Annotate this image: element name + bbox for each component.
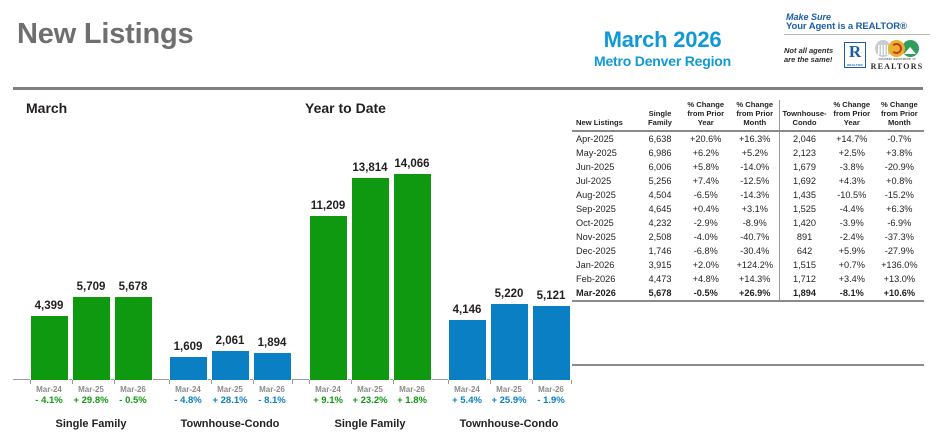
table-cell-tc-yoy: -8.1%: [829, 286, 875, 301]
table-cell-sf: 4,645: [639, 202, 681, 216]
table-cell-sf: 2,508: [639, 230, 681, 244]
table-cell-sf: 5,256: [639, 174, 681, 188]
table-cell-tc: 1,435: [780, 188, 829, 202]
table-header: New ListingsSingleFamily% Changefrom Pri…: [572, 100, 924, 131]
table-cell-month: Jun-2025: [572, 160, 639, 174]
table-cell-tc: 1,420: [780, 216, 829, 230]
table-cell-tc: 891: [780, 230, 829, 244]
realtor-logo-headline: Make Sure Your Agent is a REALTOR®: [784, 12, 930, 32]
table-row: Jul-20255,256+7.4%-12.5%1,692+4.3%+0.8%: [572, 174, 924, 188]
table-cell-tc-mom: +6.3%: [875, 202, 924, 216]
table-cell-month: Jan-2026: [572, 258, 639, 272]
table-cell-tc-mom: +0.8%: [875, 174, 924, 188]
realtor-r-letter: R: [849, 42, 861, 61]
table-cell-month: Sep-2025: [572, 202, 639, 216]
table-cell-tc: 1,692: [780, 174, 829, 188]
table-cell-month: Mar-2026: [572, 286, 639, 301]
table-cell-sf-mom: -12.5%: [730, 174, 779, 188]
table-cell-sf-yoy: -0.5%: [681, 286, 730, 301]
table-header-line: Month: [877, 118, 922, 127]
table-cell-sf-yoy: +4.8%: [681, 272, 730, 286]
table-cell-sf-mom: -14.0%: [730, 160, 779, 174]
table-cell-sf-yoy: +20.6%: [681, 131, 730, 146]
table-cell-tc: 1,894: [780, 286, 829, 301]
bar-townhouse-condo-mar-25: [490, 303, 529, 380]
table-header-row: New ListingsSingleFamily% Changefrom Pri…: [572, 100, 924, 131]
x-axis-pct-change: - 8.1%: [246, 395, 298, 406]
table-row: Nov-20252,508-4.0%-40.7%891-2.4%-37.3%: [572, 230, 924, 244]
table-header-line: % Change: [877, 100, 922, 109]
group-label-single-family: Single Family: [300, 418, 440, 430]
group-label-single-family: Single Family: [21, 418, 161, 430]
table-header-cell: New Listings: [572, 100, 639, 131]
header-divider: [13, 87, 923, 90]
realtor-r-sublabel: REALTOR: [845, 63, 865, 67]
x-axis-date: Mar-26: [386, 384, 438, 395]
x-axis-pct-change: - 0.5%: [107, 395, 159, 406]
x-axis-pct-change: - 1.9%: [525, 395, 577, 406]
table-header-line: % Change: [683, 100, 728, 109]
bar-value-label: 14,066: [372, 158, 452, 170]
table-cell-tc: 1,515: [780, 258, 829, 272]
x-axis-date: Mar-26: [107, 384, 159, 395]
table-header-line: Year: [831, 118, 873, 127]
page-title: New Listings: [17, 18, 193, 51]
table-cell-tc-mom: -0.7%: [875, 131, 924, 146]
table-cell-sf-yoy: +0.4%: [681, 202, 730, 216]
report-period-region: Metro Denver Region: [560, 52, 765, 71]
chart-march-plot: 4,3995,7095,6781,6092,0611,894: [13, 124, 285, 380]
chart-ytd-x-labels: Mar-24+ 9.1%Mar-25+ 23.2%Mar-26+ 1.8%Mar…: [292, 384, 564, 418]
table-cell-sf: 4,473: [639, 272, 681, 286]
bar-townhouse-condo-mar-26: [532, 305, 571, 380]
table-row: Mar-20265,678-0.5%+26.9%1,894-8.1%+10.6%: [572, 286, 924, 301]
table-header-line: Year: [683, 118, 728, 127]
table-cell-tc: 642: [780, 244, 829, 258]
table-header-cell: % Changefrom PriorYear: [681, 100, 730, 131]
table-cell-tc-yoy: -2.4%: [829, 230, 875, 244]
table-header-cell: SingleFamily: [639, 100, 681, 131]
realtor-logo-tagline: Not all agents are the same!: [784, 46, 840, 64]
realtor-logo-divider: [784, 34, 930, 35]
chart-ytd-title: Year to Date: [305, 100, 564, 116]
report-period-month: March 2026: [560, 28, 765, 52]
bar-single-family-mar-25: [351, 177, 390, 380]
table-cell-sf: 4,504: [639, 188, 681, 202]
colorado-association-realtors-logo: colorado association of REALTORS: [870, 38, 924, 71]
new-listings-table: New ListingsSingleFamily% Changefrom Pri…: [572, 100, 924, 302]
colorado-c-icon: [888, 40, 905, 57]
table-header-line: % Change: [831, 100, 873, 109]
table-cell-tc: 1,712: [780, 272, 829, 286]
table-row: Apr-20256,638+20.6%+16.3%2,046+14.7%-0.7…: [572, 131, 924, 146]
table-row: Dec-20251,746-6.8%-30.4%642+5.9%-27.9%: [572, 244, 924, 258]
table-cell-tc-yoy: -3.8%: [829, 160, 875, 174]
table-cell-tc: 2,123: [780, 146, 829, 160]
bar-townhouse-condo-mar-24: [448, 319, 487, 380]
new-listings-table-element: New ListingsSingleFamily% Changefrom Pri…: [572, 100, 924, 302]
chart-march: March 4,3995,7095,6781,6092,0611,894 Mar…: [13, 100, 285, 434]
table-cell-tc-yoy: +2.5%: [829, 146, 875, 160]
chart-march-group-labels: Single FamilyTownhouse-Condo: [13, 418, 285, 434]
table-cell-sf-mom: +3.1%: [730, 202, 779, 216]
table-cell-month: Aug-2025: [572, 188, 639, 202]
table-cell-tc-mom: -37.3%: [875, 230, 924, 244]
table-cell-tc-mom: -6.9%: [875, 216, 924, 230]
table-cell-sf-mom: +5.2%: [730, 146, 779, 160]
table-cell-sf-mom: -8.9%: [730, 216, 779, 230]
table-cell-tc-mom: +136.0%: [875, 258, 924, 272]
bar-single-family-mar-26: [114, 296, 153, 380]
x-axis-label-group: Mar-26- 0.5%: [107, 384, 159, 406]
table-cell-sf: 5,678: [639, 286, 681, 301]
table-row: Oct-20254,232-2.9%-8.9%1,420-3.9%-6.9%: [572, 216, 924, 230]
table-cell-tc-yoy: -4.4%: [829, 202, 875, 216]
table-row: Feb-20264,473+4.8%+14.3%1,712+3.4%+13.0%: [572, 272, 924, 286]
table-cell-sf-yoy: +2.0%: [681, 258, 730, 272]
table-header-cell: % Changefrom PriorYear: [829, 100, 875, 131]
table-cell-sf: 6,006: [639, 160, 681, 174]
table-cell-month: Nov-2025: [572, 230, 639, 244]
table-cell-sf-mom: -14.3%: [730, 188, 779, 202]
x-axis-pct-change: + 1.8%: [386, 395, 438, 406]
table-cell-sf: 6,986: [639, 146, 681, 160]
x-axis-label-group: Mar-26- 8.1%: [246, 384, 298, 406]
table-header-line: Month: [732, 118, 777, 127]
realtor-logo-bottom: Not all agents are the same! R REALTOR c…: [784, 38, 930, 71]
table-row: May-20256,986+6.2%+5.2%2,123+2.5%+3.8%: [572, 146, 924, 160]
table-cell-sf-yoy: -2.9%: [681, 216, 730, 230]
table-cell-month: Dec-2025: [572, 244, 639, 258]
table-cell-sf-mom: -40.7%: [730, 230, 779, 244]
table-cell-sf-yoy: -4.0%: [681, 230, 730, 244]
group-label-townhouse-condo: Townhouse-Condo: [439, 418, 579, 430]
chart-year-to-date: Year to Date 11,20913,81414,0664,1465,22…: [292, 100, 564, 434]
realtor-logo: Make Sure Your Agent is a REALTOR® Not a…: [784, 12, 930, 74]
table-row: Sep-20254,645+0.4%+3.1%1,525-4.4%+6.3%: [572, 202, 924, 216]
bar-townhouse-condo-mar-26: [253, 352, 292, 380]
table-cell-sf-mom: +26.9%: [730, 286, 779, 301]
x-axis-label-group: Mar-26+ 1.8%: [386, 384, 438, 406]
table-cell-tc-mom: -27.9%: [875, 244, 924, 258]
table-header-cell: % Changefrom PriorMonth: [730, 100, 779, 131]
table-cell-tc: 1,525: [780, 202, 829, 216]
table-cell-month: Oct-2025: [572, 216, 639, 230]
table-header-line: from Prior: [732, 109, 777, 118]
table-cell-sf-yoy: -6.5%: [681, 188, 730, 202]
table-cell-tc-mom: +13.0%: [875, 272, 924, 286]
car-name-label: REALTORS: [870, 62, 924, 71]
table-header-line: % Change: [732, 100, 777, 109]
x-axis-label-group: Mar-26- 1.9%: [525, 384, 577, 406]
table-row: Jan-20263,915+2.0%+124.2%1,515+0.7%+136.…: [572, 258, 924, 272]
table-cell-tc: 2,046: [780, 131, 829, 146]
table-cell-sf-yoy: +5.8%: [681, 160, 730, 174]
chart-march-title: March: [26, 100, 285, 116]
table-header-line: from Prior: [877, 109, 922, 118]
bar-single-family-mar-24: [30, 315, 69, 380]
table-cell-sf-mom: +16.3%: [730, 131, 779, 146]
table-cell-tc-mom: -20.9%: [875, 160, 924, 174]
bar-townhouse-condo-mar-24: [169, 356, 208, 380]
table-cell-tc-mom: +3.8%: [875, 146, 924, 160]
chart-march-x-labels: Mar-24- 4.1%Mar-25+ 29.8%Mar-26- 0.5%Mar…: [13, 384, 285, 418]
table-bottom-divider: [572, 364, 924, 366]
table-cell-month: Feb-2026: [572, 272, 639, 286]
table-row: Jun-20256,006+5.8%-14.0%1,679-3.8%-20.9%: [572, 160, 924, 174]
table-cell-tc: 1,679: [780, 160, 829, 174]
table-cell-tc-yoy: -3.9%: [829, 216, 875, 230]
table-cell-month: May-2025: [572, 146, 639, 160]
bar-townhouse-condo-mar-25: [211, 350, 250, 380]
group-label-townhouse-condo: Townhouse-Condo: [160, 418, 300, 430]
bar-single-family-mar-24: [309, 215, 348, 380]
table-cell-tc-yoy: +3.4%: [829, 272, 875, 286]
table-cell-month: Apr-2025: [572, 131, 639, 146]
table-header-line: Family: [641, 118, 679, 127]
bar-value-label: 5,678: [93, 281, 173, 293]
table-cell-sf-mom: +14.3%: [730, 272, 779, 286]
table-cell-sf-yoy: +7.4%: [681, 174, 730, 188]
report-period: March 2026 Metro Denver Region: [560, 28, 765, 71]
table-cell-month: Jul-2025: [572, 174, 639, 188]
chart-ytd-group-labels: Single FamilyTownhouse-Condo: [292, 418, 564, 434]
table-cell-tc-yoy: -10.5%: [829, 188, 875, 202]
chart-ytd-plot: 11,20913,81414,0664,1465,2205,121: [292, 124, 564, 380]
x-axis-date: Mar-26: [246, 384, 298, 395]
table-cell-sf-mom: -30.4%: [730, 244, 779, 258]
table-cell-sf: 6,638: [639, 131, 681, 146]
table-header-line: Townhouse-: [782, 109, 827, 118]
x-axis-date: Mar-26: [525, 384, 577, 395]
realtor-logo-tagline-line2: are the same!: [784, 55, 840, 64]
table-cell-tc-yoy: +4.3%: [829, 174, 875, 188]
table-header-cell: Townhouse-Condo: [780, 100, 829, 131]
table-header-line: Condo: [782, 118, 827, 127]
table-cell-sf: 3,915: [639, 258, 681, 272]
table-cell-sf: 1,746: [639, 244, 681, 258]
table-body: Apr-20256,638+20.6%+16.3%2,046+14.7%-0.7…: [572, 131, 924, 301]
table-row: Aug-20254,504-6.5%-14.3%1,435-10.5%-15.2…: [572, 188, 924, 202]
realtor-logo-line2: Your Agent is a REALTOR®: [786, 22, 930, 32]
table-cell-sf-mom: +124.2%: [730, 258, 779, 272]
table-cell-tc-mom: +10.6%: [875, 286, 924, 301]
table-cell-sf-yoy: -6.8%: [681, 244, 730, 258]
table-header-line: Single: [641, 109, 679, 118]
table-cell-tc-yoy: +14.7%: [829, 131, 875, 146]
realtor-logo-tagline-line1: Not all agents: [784, 46, 840, 55]
table-header-cell: % Changefrom PriorMonth: [875, 100, 924, 131]
table-cell-sf-yoy: +6.2%: [681, 146, 730, 160]
table-header-line: from Prior: [683, 109, 728, 118]
table-header-line: New Listings: [576, 118, 637, 127]
bar-single-family-mar-25: [72, 296, 111, 380]
realtor-r-mark-icon: R REALTOR: [844, 42, 866, 68]
bar-single-family-mar-26: [393, 173, 432, 380]
table-cell-tc-yoy: +5.9%: [829, 244, 875, 258]
table-cell-sf: 4,232: [639, 216, 681, 230]
table-cell-tc-yoy: +0.7%: [829, 258, 875, 272]
table-cell-tc-mom: -15.2%: [875, 188, 924, 202]
table-header-line: from Prior: [831, 109, 873, 118]
car-emblem-icon: [870, 38, 924, 57]
